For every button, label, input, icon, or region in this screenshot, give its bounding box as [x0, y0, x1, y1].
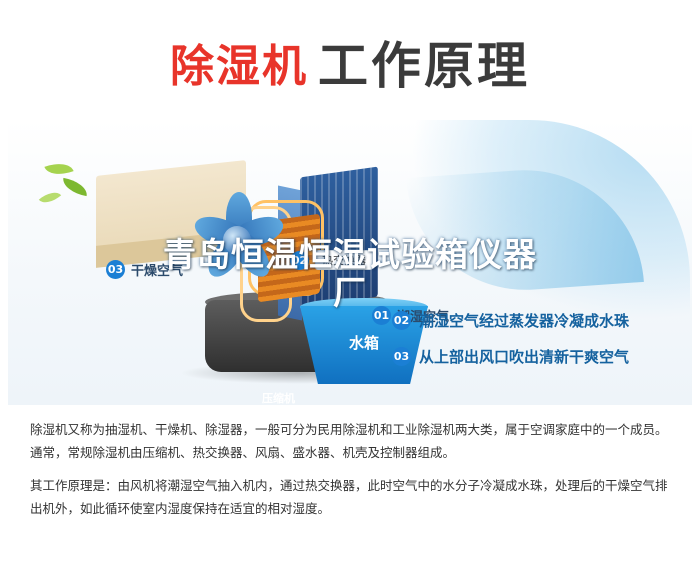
page-root: 除湿机工作原理 水箱 03 — [0, 0, 700, 566]
badge-compressor: 压缩机 — [262, 390, 295, 406]
fan-assembly — [176, 182, 294, 294]
badge-heat-exchanger: 02 热交换器 — [290, 250, 373, 270]
title-red-part: 除湿机 — [170, 41, 308, 92]
badge-label: 热交换器 — [315, 250, 373, 270]
water-tank-label: 水箱 — [330, 332, 398, 353]
dehumidifier-diagram: 水箱 03 干燥空气 02 热交换器 01 潮湿空气 压缩机 02 潮湿空气经过… — [0, 110, 700, 410]
fan-hub — [223, 226, 251, 254]
title-dark-part: 工作原理 — [318, 37, 530, 95]
badge-dry-air: 03 干燥空气 — [106, 260, 183, 279]
step-number: 03 — [392, 347, 411, 366]
badge-number: 02 — [290, 251, 309, 270]
badge-label: 压缩机 — [262, 390, 295, 406]
step-text: 潮湿空气经过蒸发器冷凝成水珠 — [419, 310, 629, 331]
step-line-03: 03 从上部出风口吹出清新干爽空气 — [392, 346, 629, 367]
badge-number: 01 — [372, 306, 391, 325]
step-line-02: 02 潮湿空气经过蒸发器冷凝成水珠 — [392, 310, 629, 331]
description-paragraph-2: 其工作原理是：由风机将潮湿空气抽入机内，通过热交换器，此时空气中的水分子冷凝成水… — [30, 474, 672, 520]
step-number: 02 — [392, 311, 411, 330]
description-paragraph-1: 除湿机又称为抽湿机、干燥机、除湿器，一般可分为民用除湿机和工业除湿机两大类，属于… — [30, 418, 672, 464]
step-text: 从上部出风口吹出清新干爽空气 — [419, 346, 629, 367]
badge-number: 03 — [106, 260, 125, 279]
description-text: 除湿机又称为抽湿机、干燥机、除湿器，一般可分为民用除湿机和工业除湿机两大类，属于… — [30, 418, 672, 530]
page-title: 除湿机工作原理 — [0, 26, 700, 98]
badge-label: 干燥空气 — [131, 260, 183, 279]
